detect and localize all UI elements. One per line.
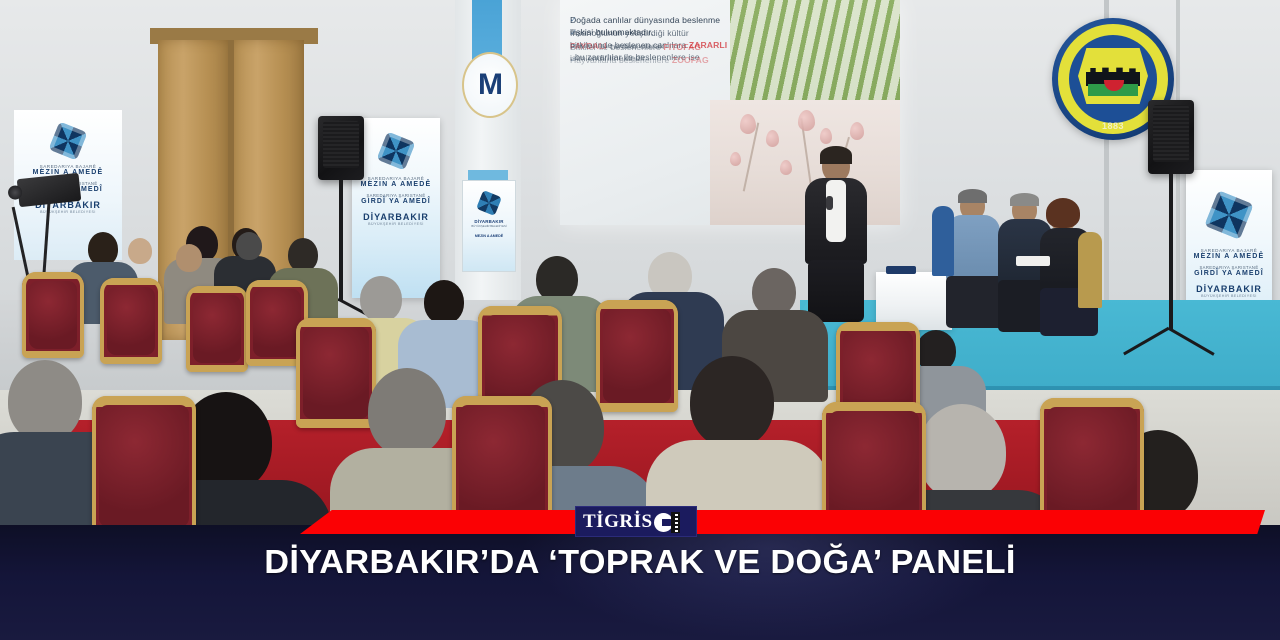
camera-lens-icon <box>7 185 22 200</box>
diyarbakir-star-icon <box>376 131 415 170</box>
news-photo-card: ŞAREDARIYA BAJARÊ MEZIN A AMEDÊ ŞAREDARI… <box>0 0 1280 640</box>
notepad <box>1016 256 1050 266</box>
film-reel-icon <box>654 511 680 533</box>
pa-speaker-left <box>318 116 364 180</box>
microphone-icon <box>826 196 833 210</box>
audience-chair <box>186 286 248 372</box>
audience-chair <box>596 300 678 412</box>
rollup-banner-left: ŞAREDARIYA BAJARÊ MEZIN A AMEDÊ ŞAREDARI… <box>352 118 440 298</box>
audience-chair <box>22 272 84 358</box>
column-banner: DİYARBAKIR BÜYÜKŞEHİR BELEDİYESİ MEZIN A… <box>462 180 516 272</box>
slide-bullet-4-text: Bitkiler ile beslenenlere <box>570 42 661 52</box>
wall-banner-line6: BÜYÜKŞEHİR BELEDİYESİ <box>14 210 122 214</box>
rollup-left-line6: BÜYÜKŞEHİR BELEDİYESİ <box>352 222 440 226</box>
speaker-stand-left <box>339 180 343 300</box>
slide-bullet-1: ✓ Doğada canlılar dünyasında beslenme il… <box>570 14 730 26</box>
slide-bullet-list: ✓ Doğada canlılar dünyasında beslenme il… <box>570 14 730 67</box>
speaker-grill <box>1153 105 1189 162</box>
column-banner-line2: BÜYÜKŞEHİR BELEDİYESİ <box>463 224 515 228</box>
audience-chair <box>100 278 162 364</box>
slide-bullet-5-text: Hayvanlarla beslenenlere <box>570 55 669 65</box>
rollup-right-line5: DİYARBAKIR <box>1186 284 1272 294</box>
diyarbakir-star-icon <box>1204 190 1253 239</box>
stage-chair-blue <box>932 206 954 276</box>
audience-chair <box>296 318 376 428</box>
column-banner-line3: MEZIN A AMEDÊ <box>463 234 515 238</box>
stage-chair-wood <box>1078 232 1102 308</box>
mezopotamya-fuarcilik-logo: M <box>462 52 518 118</box>
table-object <box>886 266 916 274</box>
page-title: DİYARBAKIR’DA ‘TOPRAK VE DOĞA’ PANELİ <box>0 543 1280 581</box>
diyarbakir-star-icon <box>48 121 87 160</box>
speaker-stand-right <box>1169 174 1173 329</box>
speaker-grill <box>323 121 359 168</box>
rollup-left-line5: DİYARBAKIR <box>352 212 440 222</box>
rollup-left-line2: MEZIN A AMEDÊ <box>352 181 440 188</box>
slide-image-crop-field <box>730 0 900 105</box>
slide-bullet-5: ✓ Hayvanlarla beslenenlere ZOOFAG <box>570 54 730 66</box>
slide-bullet-2: ✓ İnsanoğlunun yetiştirdiği kültür bitki… <box>570 27 730 39</box>
pa-speaker-right <box>1148 100 1194 174</box>
slide-bullet-4: ✓ Bitkiler ile beslenenlere FITOFAG <box>570 41 730 53</box>
rollup-right-line2: MEZIN A AMEDÊ <box>1186 253 1272 260</box>
audience-chair <box>92 396 196 525</box>
audience-chair <box>1040 398 1144 525</box>
rollup-left-line4: GIRDÎ YA AMEDÎ <box>352 198 440 205</box>
tigris-logo-text: TİGRİS <box>576 512 653 531</box>
audience-chair <box>452 396 552 525</box>
slide-keyword-zoofag: ZOOFAG <box>672 55 709 65</box>
fair-logo-glyph: M <box>478 70 502 100</box>
rollup-right-line6: BÜYÜKŞEHİR BELEDİYESİ <box>1186 294 1272 298</box>
slide-keyword-fitofag: FITOFAG <box>663 42 701 52</box>
diyarbakir-star-icon <box>476 190 502 216</box>
tigris-logo[interactable]: TİGRİS <box>575 506 697 537</box>
watermark-red-band <box>300 510 1265 534</box>
rollup-right-line4: GIRDÎ YA AMEDÎ <box>1186 270 1272 277</box>
audience-chair <box>822 402 926 525</box>
event-photograph: ŞAREDARIYA BAJARÊ MEZIN A AMEDÊ ŞAREDARI… <box>0 0 1280 525</box>
